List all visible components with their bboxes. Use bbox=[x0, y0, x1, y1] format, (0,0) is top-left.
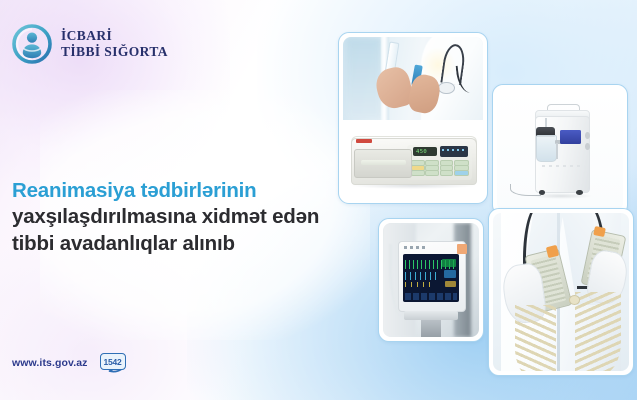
hotline-number: 1542 bbox=[100, 353, 126, 370]
brand-logo[interactable]: İCBARİ TİBBİ SIĞORTA bbox=[12, 24, 168, 64]
vital-signs-monitor-panel[interactable] bbox=[378, 218, 484, 342]
hotline-badge[interactable]: 1542 bbox=[97, 348, 131, 378]
defibrillator-photo bbox=[493, 213, 629, 371]
vital-signs-monitor-photo bbox=[383, 223, 479, 337]
footer-block: www.its.gov.az 1542 bbox=[12, 348, 131, 378]
syringe-pump-scene: 450 bbox=[343, 120, 483, 199]
icbari-tibbi-sigorta-emblem-icon bbox=[12, 24, 52, 64]
infusion-pump-panel[interactable]: 450 bbox=[338, 32, 488, 204]
infusion-pump-photo: 450 bbox=[343, 37, 483, 199]
pump-display-value: 450 bbox=[416, 149, 427, 155]
defibrillator-panel[interactable] bbox=[488, 208, 634, 376]
oxygen-concentrator-panel[interactable] bbox=[492, 84, 628, 216]
website-link[interactable]: www.its.gov.az bbox=[12, 357, 88, 369]
photo-collage: 450 bbox=[332, 22, 632, 374]
oxygen-concentrator-photo bbox=[497, 89, 623, 211]
banner-canvas: İCBARİ TİBBİ SIĞORTA Reanimasiya tədbirl… bbox=[0, 0, 637, 400]
brand-wordmark: İCBARİ TİBBİ SIĞORTA bbox=[61, 28, 168, 60]
brand-line-1: İCBARİ bbox=[61, 28, 168, 44]
brand-line-2: TİBBİ SIĞORTA bbox=[61, 44, 168, 60]
doctor-syringe-scene bbox=[343, 37, 483, 120]
